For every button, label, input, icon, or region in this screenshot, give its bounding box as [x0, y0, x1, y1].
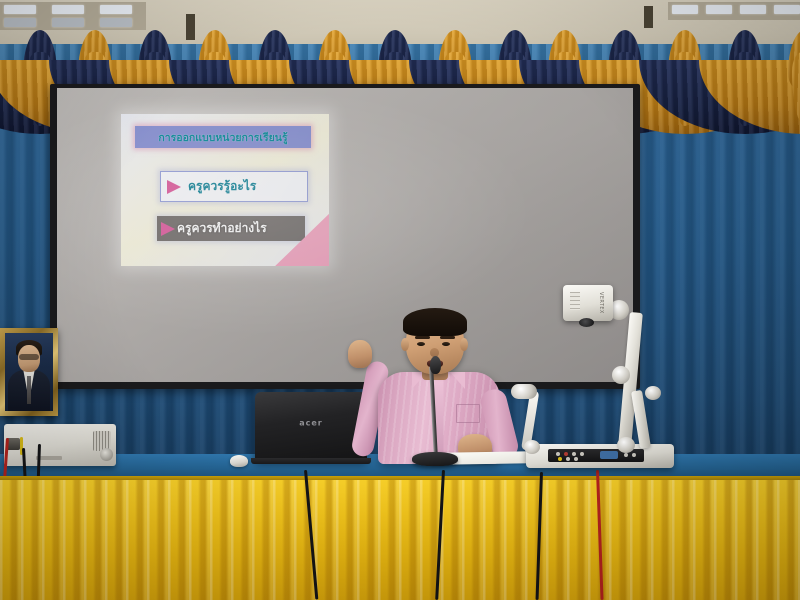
control-display: [600, 451, 618, 459]
speaker-raised-hand: [348, 340, 372, 368]
louvre-slat: [672, 5, 698, 14]
swag-drape-gold: [745, 30, 800, 130]
speaker-hair: [403, 308, 467, 336]
shirt-pocket: [456, 404, 480, 423]
document-camera-joint: [645, 386, 661, 400]
shirt-collar-right: [450, 372, 465, 389]
laptop-computer[interactable]: acer: [255, 392, 367, 460]
document-camera-joint: [612, 366, 630, 384]
control-button[interactable]: [566, 457, 570, 461]
control-button[interactable]: [556, 452, 560, 456]
slide-title-band: การออกแบบหน่วยการเรียนรู้: [135, 126, 311, 148]
control-button[interactable]: [564, 452, 568, 456]
projected-slide: การออกแบบหน่วยการเรียนรู้ ครูควรรู้อะไร …: [121, 114, 329, 266]
slide-bullet-1-text: ครูควรรู้อะไร: [188, 177, 256, 196]
slide-bullet-2: ครูควรทำอย่างไร: [157, 216, 305, 241]
speaker-eye-right: [442, 342, 450, 346]
portrait-image: [5, 333, 53, 411]
louvre-slat: [52, 5, 84, 14]
laptop-brand-label: acer: [299, 419, 323, 428]
computer-mouse[interactable]: [230, 455, 248, 467]
document-camera-vent: [570, 292, 580, 310]
document-camera-brand-label: VERTEX: [598, 292, 604, 314]
louvre-slat: [706, 5, 732, 14]
laptop-base: [251, 458, 371, 464]
slide-bullet-2-text: ครูควรทำอย่างไร: [177, 219, 267, 238]
wall-post: [644, 6, 653, 28]
slide-bullet-1: ครูควรรู้อะไร: [160, 171, 308, 202]
speaker-brow-left: [415, 336, 430, 339]
slide-title-text: การออกแบบหน่วยการเรียนรู้: [158, 129, 287, 146]
louvre-slat: [740, 5, 766, 14]
table-skirt: [0, 476, 800, 600]
framed-portrait: [0, 328, 58, 416]
arrow-bullet-icon: [161, 222, 175, 236]
microphone-head: [430, 356, 441, 374]
speaker-eye-left: [417, 342, 425, 346]
louvre-slat: [4, 5, 36, 14]
table-skirt-hem: [0, 476, 800, 480]
microphone-base[interactable]: [412, 452, 458, 466]
speaker-ear-right: [460, 338, 468, 351]
louvre-slat: [774, 5, 800, 14]
document-camera-joint: [524, 440, 540, 454]
control-button[interactable]: [580, 452, 584, 456]
control-button[interactable]: [572, 452, 576, 456]
control-button[interactable]: [558, 457, 562, 461]
louvre-slat: [100, 18, 132, 27]
document-camera-joint: [617, 437, 635, 453]
document-camera-lens-icon: [579, 318, 594, 327]
louvre-slat: [4, 18, 36, 27]
arrow-bullet-icon: [167, 180, 181, 194]
louvre-slat: [52, 18, 84, 27]
louvre-slat: [100, 5, 132, 14]
projector-lens-icon: [100, 448, 113, 461]
control-button[interactable]: [624, 453, 628, 457]
document-camera-lamp-head: [511, 384, 537, 399]
photo-scene: การออกแบบหน่วยการเรียนรู้ ครูควรรู้อะไร …: [0, 0, 800, 600]
speaker-ear-left: [401, 338, 409, 351]
control-button[interactable]: [632, 453, 636, 457]
control-button[interactable]: [574, 457, 578, 461]
speaker-brow-right: [440, 336, 455, 339]
